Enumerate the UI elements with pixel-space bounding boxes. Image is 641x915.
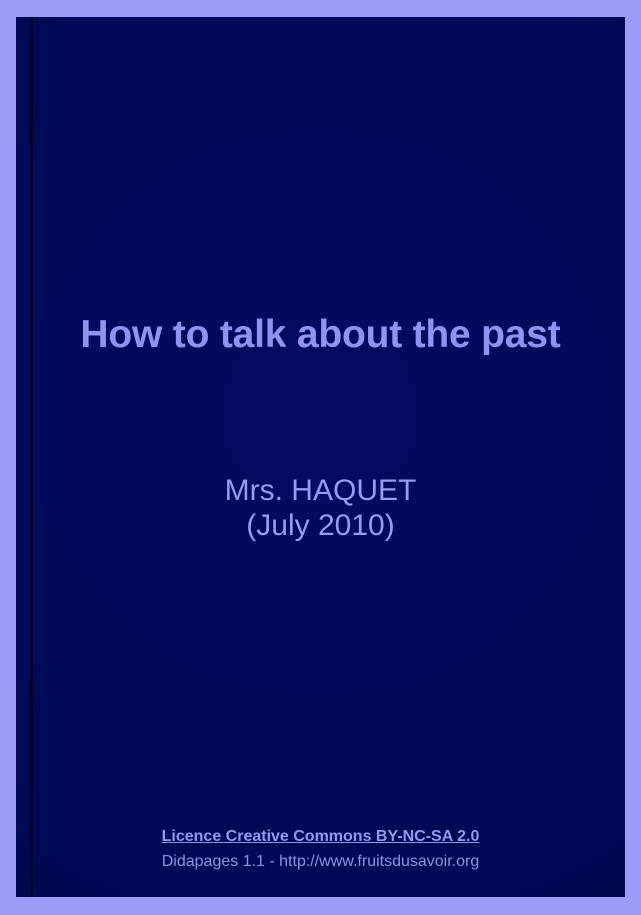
page-title: How to talk about the past [33,315,608,356]
page-content: How to talk about the past Mrs. HAQUET (… [16,17,625,897]
publication-date: (July 2010) [33,508,608,543]
page-footer: Licence Creative Commons BY-NC-SA 2.0 Di… [33,825,608,875]
book-page: How to talk about the past Mrs. HAQUET (… [16,17,625,897]
creative-commons-license-link[interactable]: Licence Creative Commons BY-NC-SA 2.0 [33,825,608,850]
document-viewport: How to talk about the past Mrs. HAQUET (… [0,0,641,915]
byline: Mrs. HAQUET (July 2010) [33,473,608,544]
didapages-credit: Didapages 1.1 - http://www.fruitsdusavoi… [33,849,608,875]
author-name: Mrs. HAQUET [33,473,608,508]
